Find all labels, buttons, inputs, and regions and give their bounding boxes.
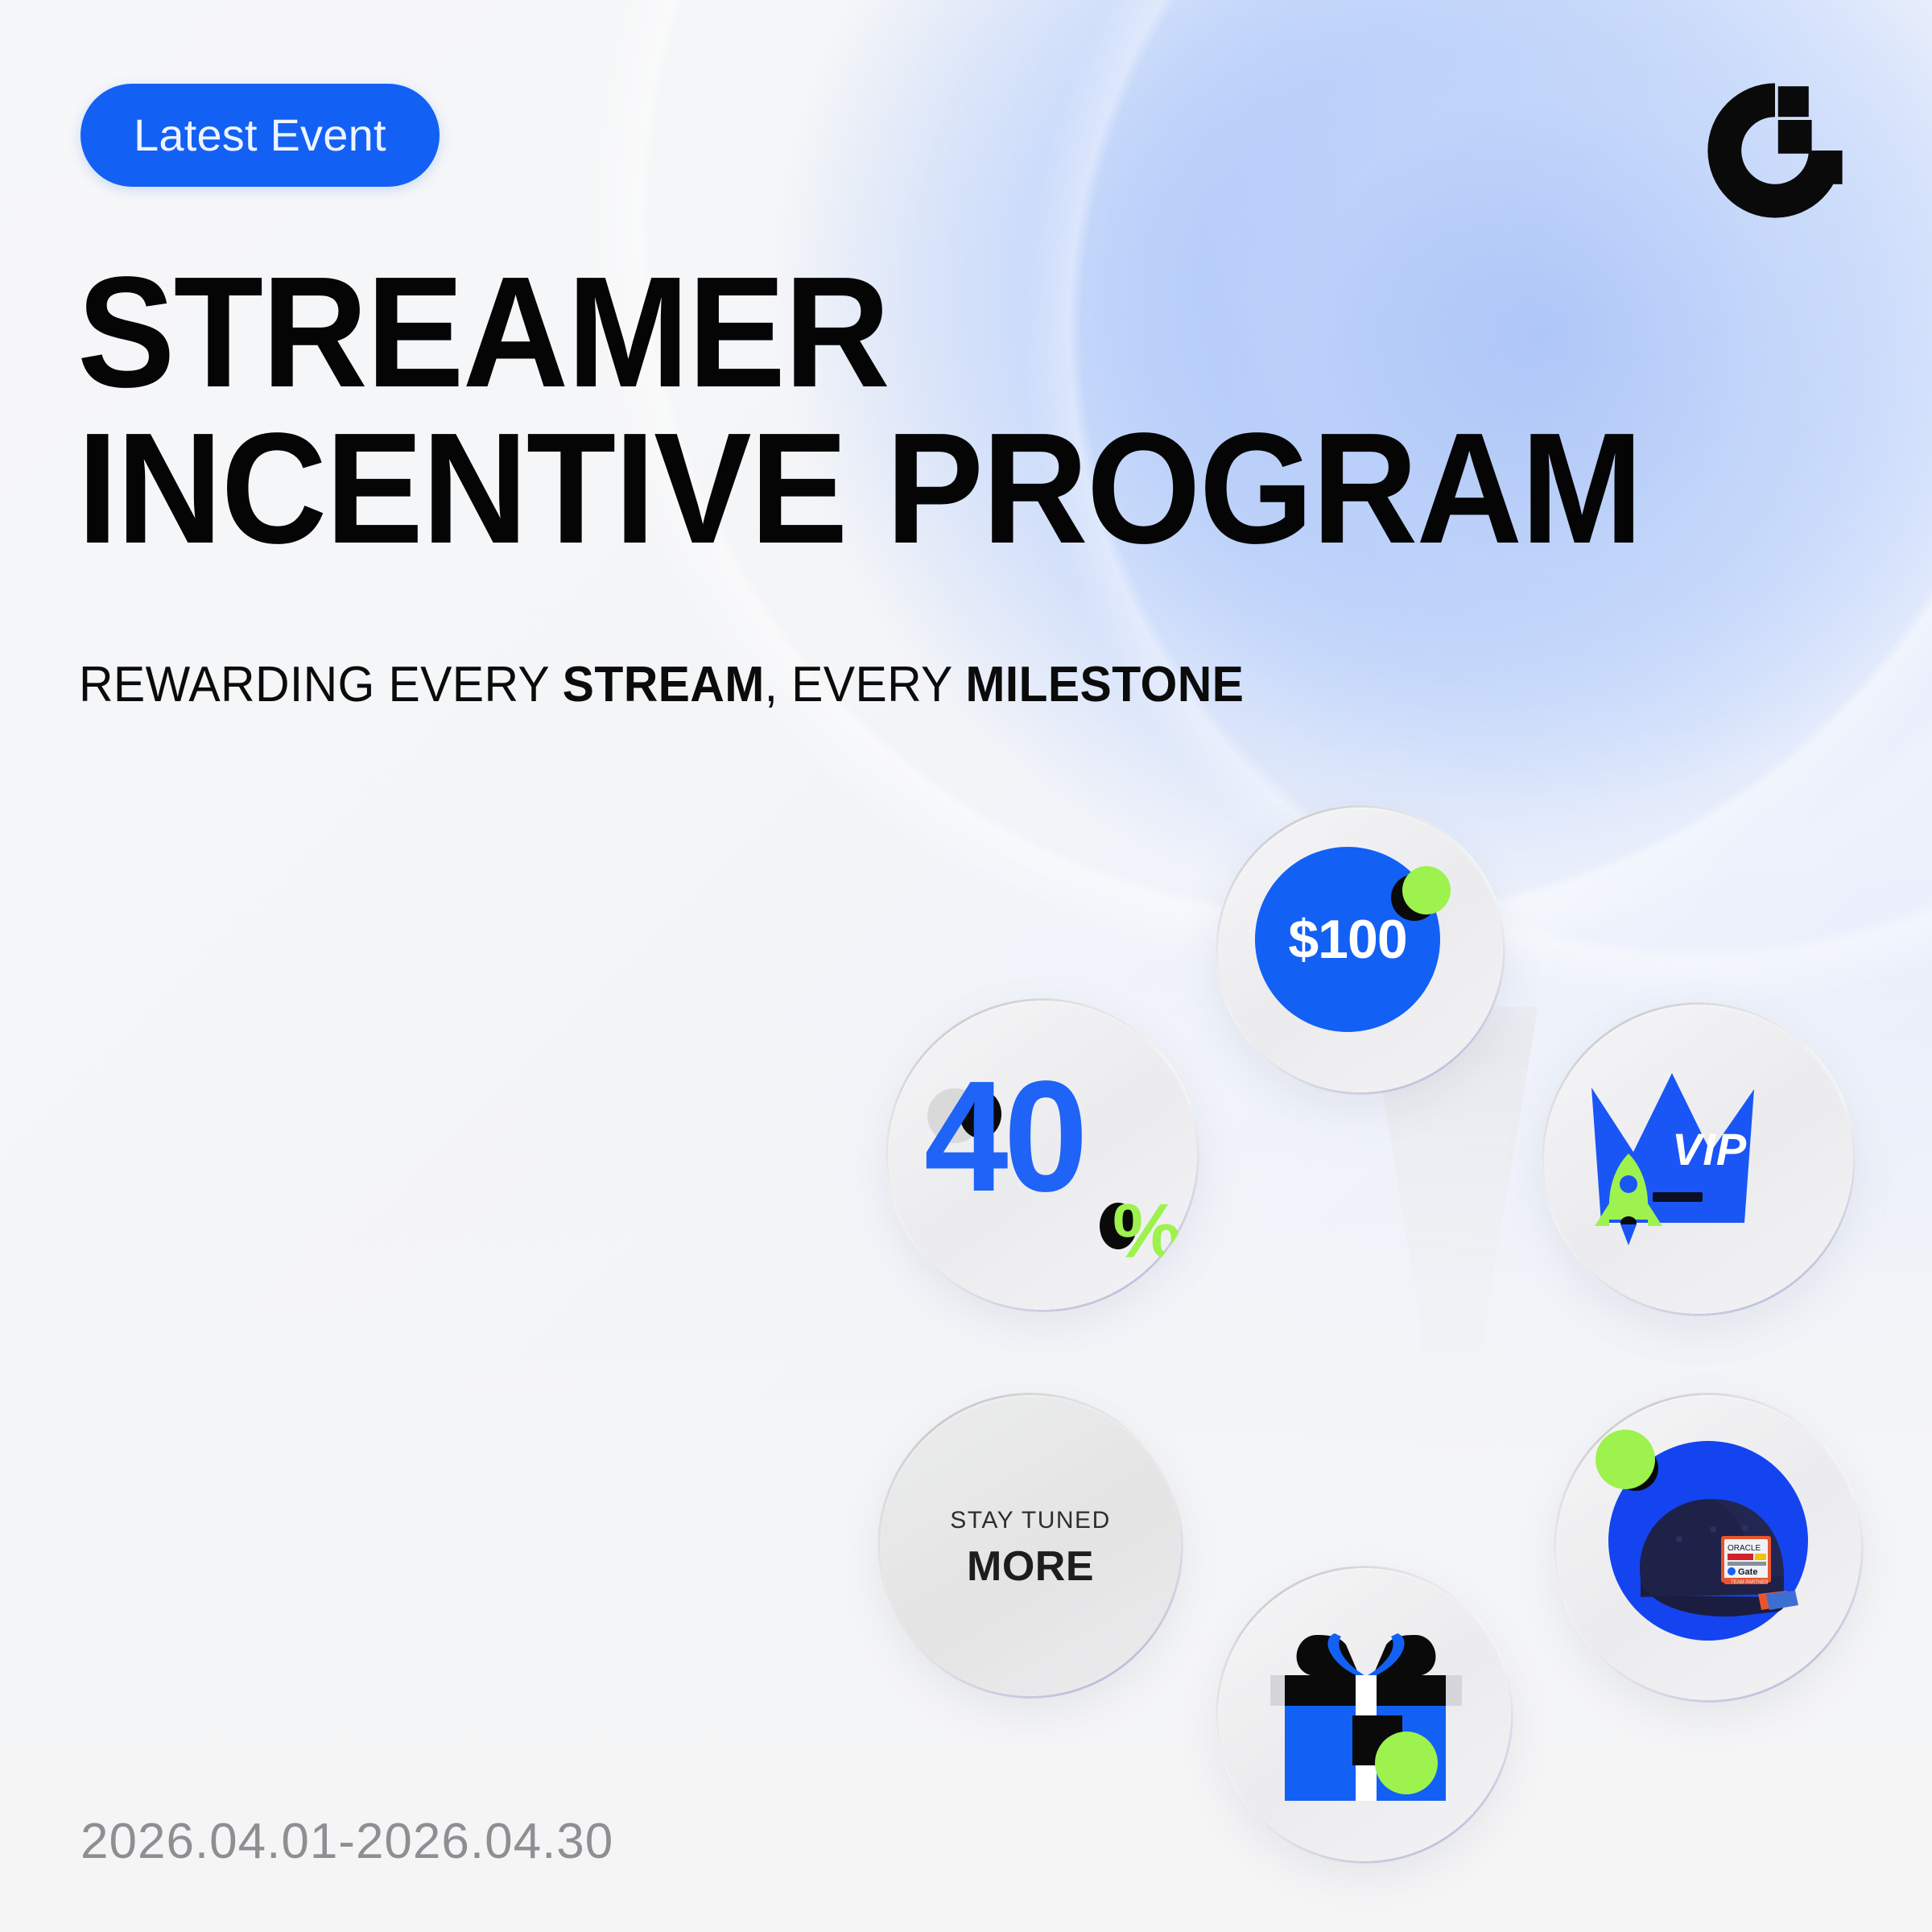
reward-bubble-more[interactable]: STAY TUNED MORE: [877, 1393, 1183, 1699]
svg-text:VIP: VIP: [1672, 1124, 1747, 1174]
reward-bubble-vip[interactable]: VIP: [1542, 1002, 1856, 1316]
more-value: MORE: [877, 1542, 1183, 1591]
latest-event-badge[interactable]: Latest Event: [80, 84, 440, 187]
subtitle: REWARDING EVERY STREAM, EVERY MILESTONE: [79, 656, 1244, 713]
accent-green-dot: [1402, 866, 1451, 914]
gate-logo-icon: [1699, 74, 1851, 227]
crown-vip-icon: VIP: [1583, 1065, 1817, 1250]
stay-tuned-icon: STAY TUNED MORE: [877, 1507, 1183, 1591]
reward-bubble-discount[interactable]: 40 %: [885, 998, 1199, 1312]
page-title: STREAMER INCENTIVE PROGRAM: [77, 259, 1832, 563]
reward-bubble-gift[interactable]: [1216, 1566, 1513, 1864]
patch-line-4: Gate: [1738, 1567, 1757, 1577]
headline-line-2: INCENTIVE PROGRAM: [77, 415, 1709, 562]
event-date-range: 2026.04.01-2026.04.30: [80, 1813, 613, 1870]
reward-bubble-merch[interactable]: ORACLE Gate TEAM PARTNER: [1554, 1393, 1864, 1703]
promo-poster: Latest Event STREAMER INCENTIVE PROGRAM …: [0, 0, 1932, 1932]
discount-value: 40: [924, 1072, 1084, 1202]
accent-green-dot: [1375, 1732, 1438, 1794]
patch-line-1: ORACLE: [1728, 1544, 1761, 1553]
latest-event-badge-label: Latest Event: [134, 113, 386, 158]
subtitle-bold-milestone: MILESTONE: [965, 657, 1244, 712]
subtitle-part-2: , EVERY: [765, 657, 966, 712]
gift-box-icon: [1265, 1622, 1467, 1807]
subtitle-part-1: REWARDING EVERY: [79, 657, 563, 712]
cash-reward-value: $100: [1288, 908, 1406, 971]
percent-discount-icon: 40 %: [924, 1072, 1090, 1202]
racing-cap-icon: ORACLE Gate TEAM PARTNER: [1592, 1476, 1826, 1645]
headline-line-1: STREAMER: [77, 259, 1709, 406]
rocket-icon: [1590, 1152, 1667, 1247]
patch-line-5: TEAM PARTNER: [1731, 1580, 1769, 1585]
subtitle-bold-stream: STREAM: [563, 657, 765, 712]
reward-bubble-cash[interactable]: $100: [1216, 805, 1505, 1095]
discount-unit: %: [1113, 1193, 1181, 1270]
more-eyebrow: STAY TUNED: [877, 1507, 1183, 1534]
